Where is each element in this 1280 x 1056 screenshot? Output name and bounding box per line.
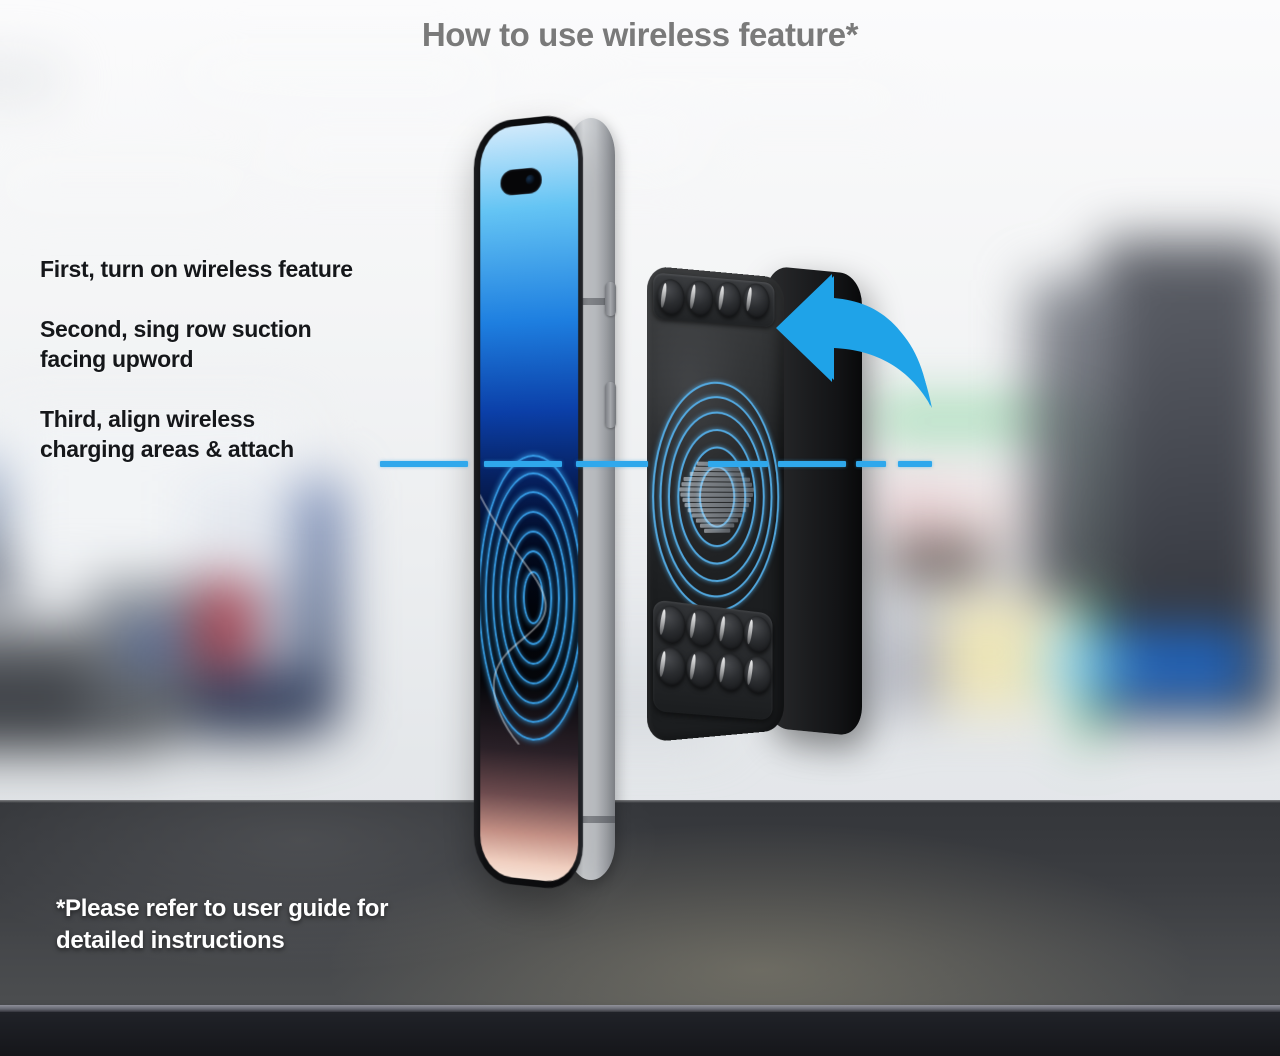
phone-body (474, 112, 583, 892)
smartphone-device (455, 112, 645, 892)
suction-cup (716, 611, 744, 651)
footnote-disclaimer: *Please refer to user guide for detailed… (56, 893, 388, 957)
top-suction-cup-row (653, 272, 774, 327)
phone-volume-button[interactable] (605, 282, 616, 316)
phone-screen[interactable] (480, 120, 578, 885)
power-bank-charging-rings (651, 375, 780, 617)
instruction-step-2: Second, sing row suction facing upword (40, 315, 311, 375)
dynamic-island (501, 167, 542, 196)
wallpaper-swoosh (480, 449, 578, 750)
instruction-step-1: First, turn on wireless feature (40, 255, 353, 285)
instruction-step-3: Third, align wireless charging areas & a… (40, 405, 294, 465)
infographic-stage: How to use wireless feature* First, turn… (0, 0, 1280, 1056)
attach-direction-arrow (770, 272, 940, 412)
bottom-suction-cup-grid (653, 599, 772, 720)
suction-cup (715, 281, 741, 318)
suction-cup (656, 604, 685, 645)
suction-cup (744, 614, 771, 653)
suction-cup (743, 282, 769, 319)
suction-cup (687, 280, 714, 317)
suction-cup (744, 655, 771, 694)
suction-cup (716, 652, 744, 691)
suction-cup (656, 646, 685, 686)
suction-cup (687, 608, 716, 648)
phone-power-button[interactable] (605, 382, 616, 428)
suction-cup (687, 649, 716, 689)
desk-front-edge (0, 1012, 1280, 1056)
page-title: How to use wireless feature* (0, 16, 1280, 54)
charging-alignment-line (380, 459, 932, 469)
power-bank-front-face (647, 266, 784, 743)
suction-cup (657, 278, 684, 316)
